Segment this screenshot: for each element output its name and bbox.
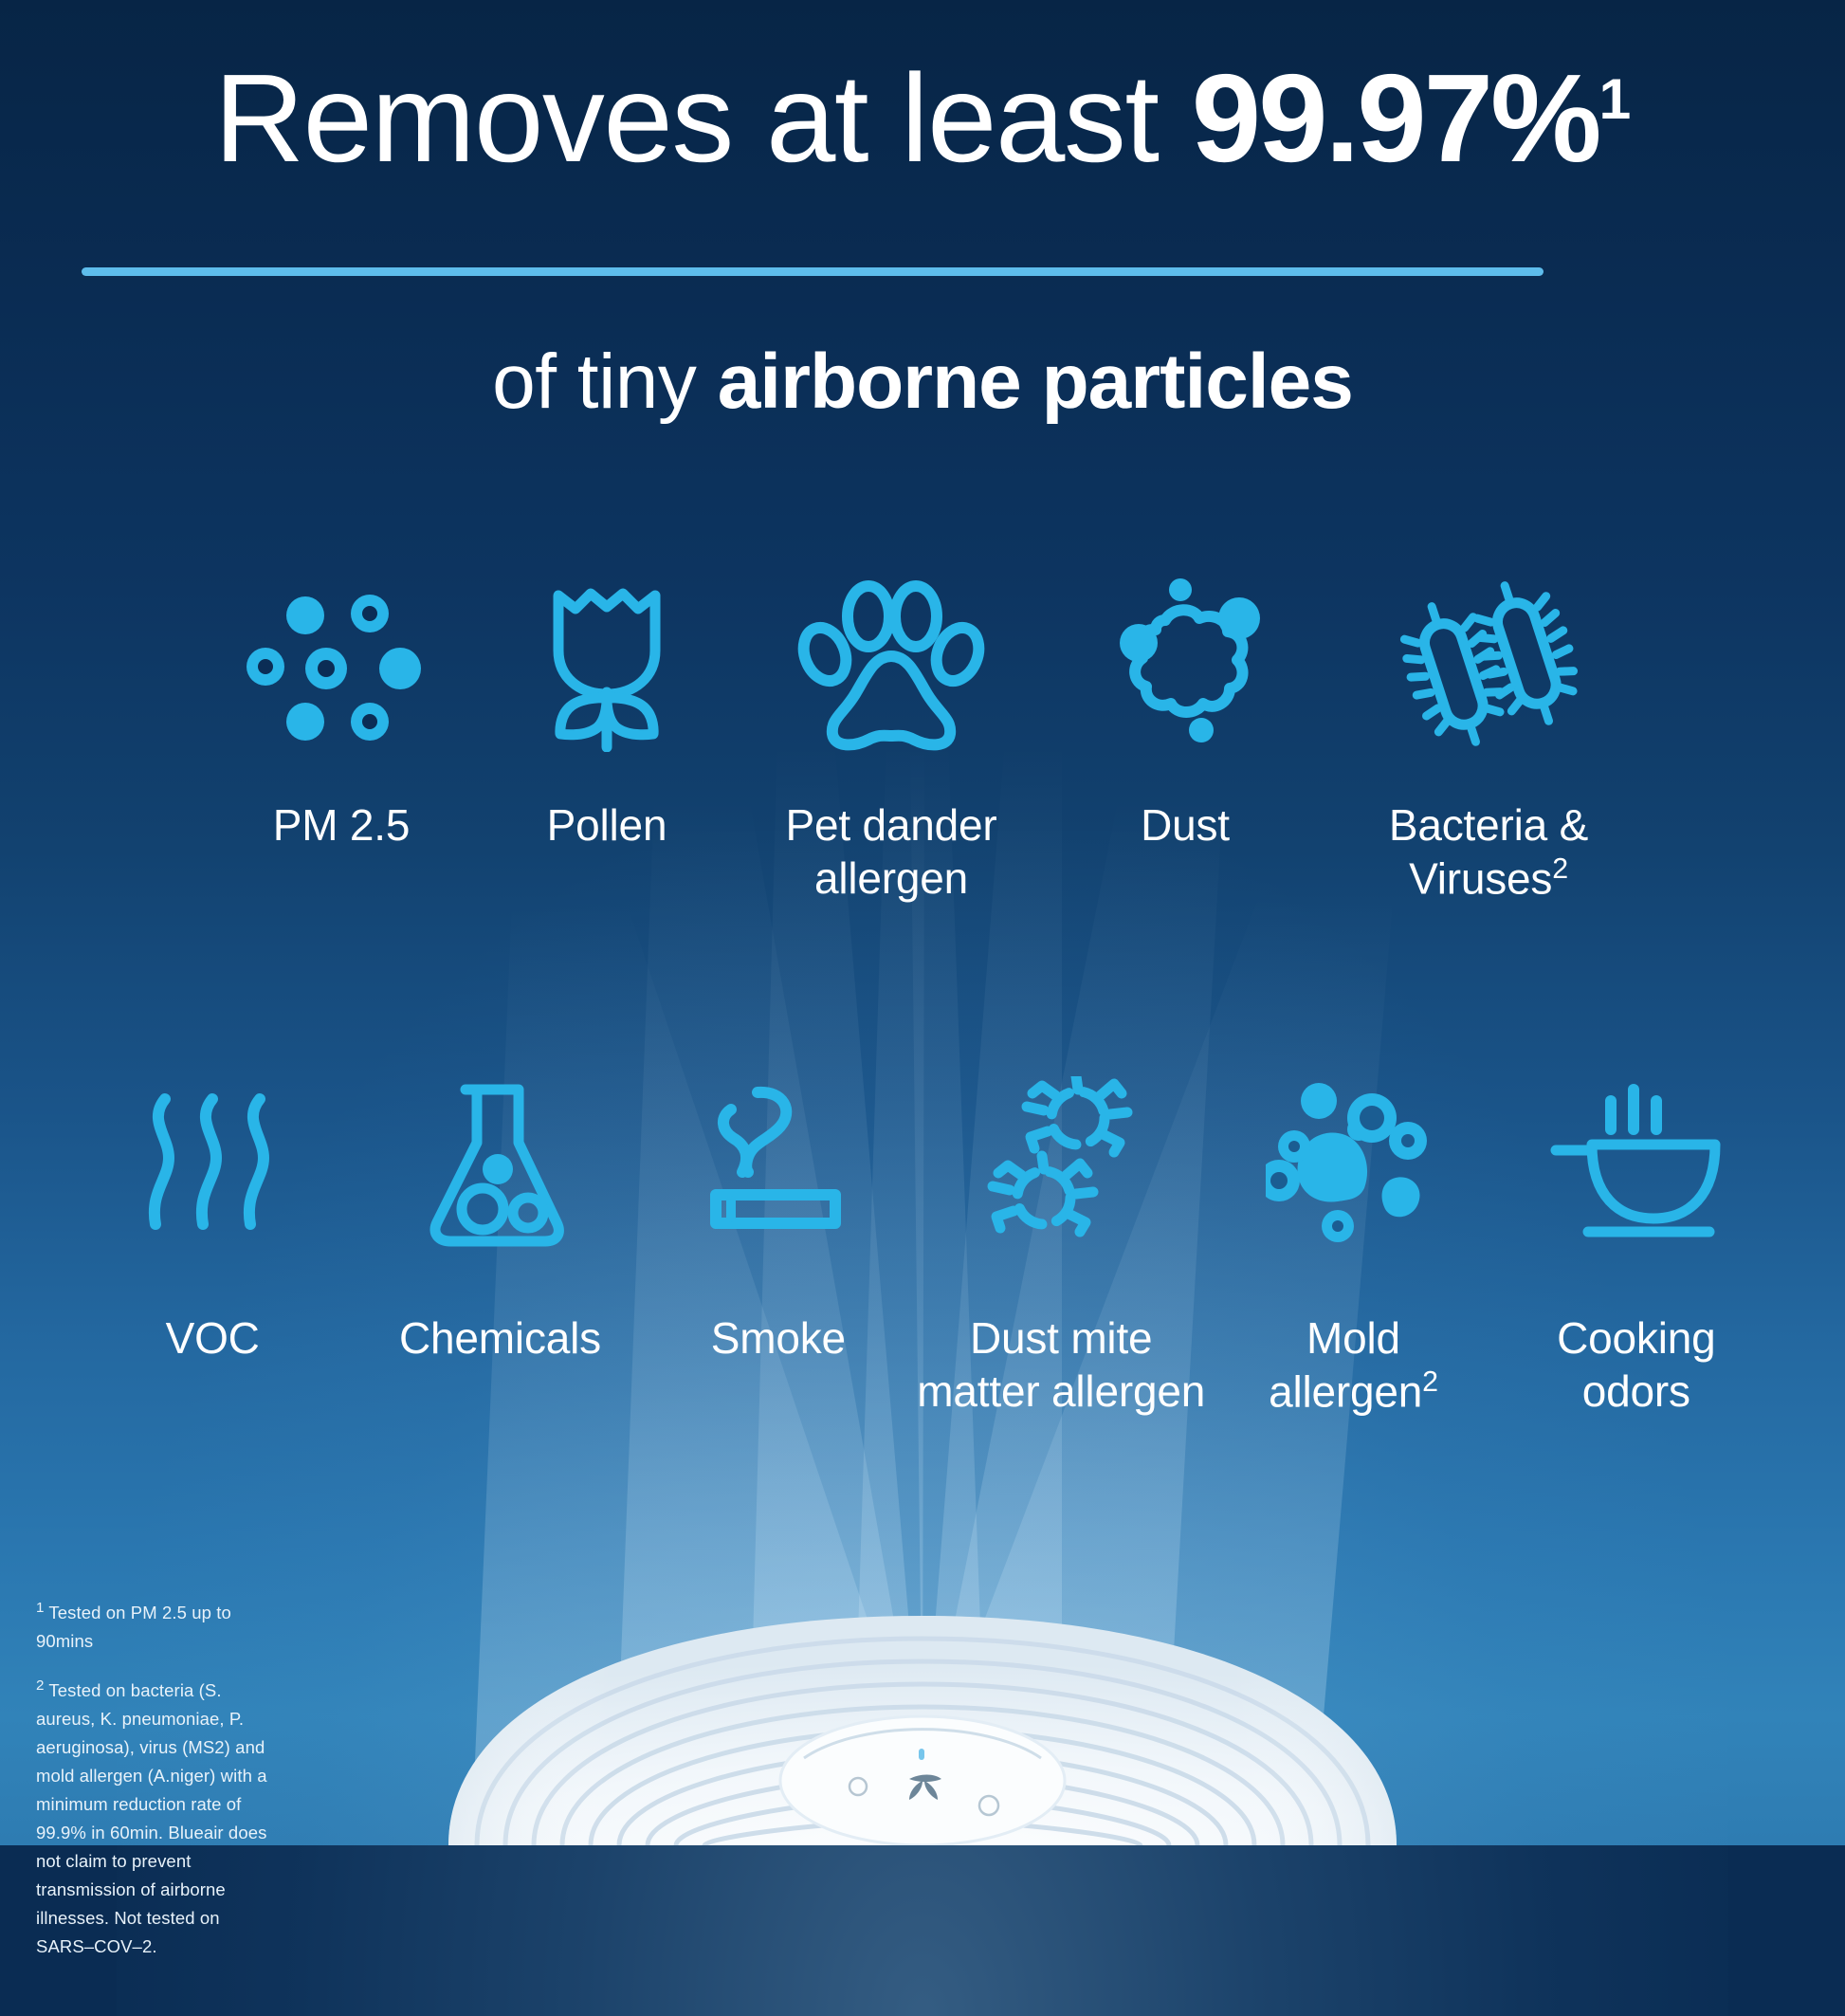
- pm25-particles-icon: [247, 569, 436, 759]
- feature-voc: VOC: [71, 1067, 354, 1365]
- footnote-1: 1 Tested on PM 2.5 up to 90mins: [36, 1597, 283, 1656]
- feature-smoke: Smoke: [647, 1067, 910, 1365]
- footnotes: 1 Tested on PM 2.5 up to 90mins 2 Tested…: [36, 1597, 283, 1961]
- feature-pollen: Pollen: [479, 569, 735, 852]
- particles-row: PM 2.5 Pollen Pet dander allergen: [199, 569, 1659, 906]
- divider-rule: [82, 267, 1544, 276]
- headline-value: 99.97%: [1192, 48, 1599, 188]
- feature-label: Pet dander allergen: [785, 798, 996, 905]
- feature-pm25: PM 2.5: [204, 569, 479, 852]
- subheadline-emphasis: airborne particles: [718, 339, 1353, 425]
- background-gradient: [0, 0, 1845, 1845]
- feature-label: Smoke: [711, 1311, 846, 1365]
- dust-mite-icon: [985, 1067, 1137, 1256]
- chemicals-flask-icon: [424, 1067, 575, 1256]
- mold-spores-icon: [1266, 1067, 1441, 1256]
- cooking-pan-icon: [1546, 1067, 1726, 1256]
- feature-chemicals: Chemicals: [354, 1067, 646, 1365]
- smoke-cigarette-icon: [703, 1067, 854, 1256]
- pet-paw-icon: [796, 569, 986, 759]
- feature-label: Dust: [1141, 798, 1230, 852]
- feature-label: Dust mite matter allergen: [917, 1311, 1205, 1418]
- feature-label: Mold allergen2: [1269, 1311, 1438, 1419]
- pollen-tulip-icon: [536, 569, 678, 759]
- feature-bacteria-viruses: Bacteria & Viruses2: [1323, 569, 1654, 906]
- feature-label: Cooking odors: [1557, 1311, 1715, 1418]
- feature-label: Chemicals: [399, 1311, 601, 1365]
- feature-dust: Dust: [1048, 569, 1323, 852]
- feature-cooking-odors: Cooking odors: [1495, 1067, 1778, 1418]
- page-title: Removes at least 99.97%1: [0, 46, 1845, 191]
- feature-label: Bacteria & Viruses2: [1389, 798, 1588, 906]
- subheadline-lead: of tiny: [492, 339, 718, 425]
- feature-pet-dander: Pet dander allergen: [735, 569, 1048, 905]
- air-purifier-top: [373, 1599, 1472, 1845]
- gases-row: VOC Chemicals Smoke: [71, 1067, 1778, 1419]
- voc-vapor-icon: [137, 1067, 288, 1256]
- bacteria-virus-icon: [1398, 569, 1579, 759]
- footnote-2: 2 Tested on bacteria (S. aureus, K. pneu…: [36, 1675, 283, 1961]
- feature-dust-mite: Dust mite matter allergen: [910, 1067, 1212, 1418]
- feature-mold: Mold allergen2: [1212, 1067, 1494, 1419]
- feature-label: VOC: [166, 1311, 260, 1365]
- page-subtitle: of tiny airborne particles: [0, 339, 1845, 425]
- feature-label: PM 2.5: [273, 798, 411, 852]
- headline-superscript: 1: [1598, 66, 1631, 131]
- dust-blob-icon: [1095, 569, 1275, 759]
- headline-lead: Removes at least: [214, 48, 1192, 188]
- feature-label: Pollen: [547, 798, 667, 852]
